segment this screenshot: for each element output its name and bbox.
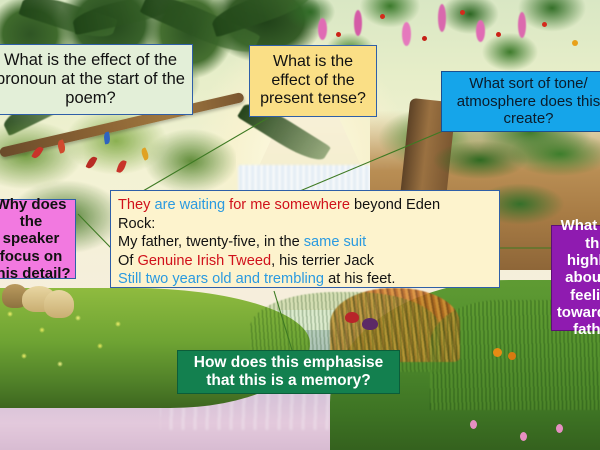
poem-run-black: , his terrier Jack	[271, 253, 374, 269]
red-mushroom	[345, 312, 359, 323]
poem-run-black: at his feet.	[324, 271, 395, 287]
poem-run-red: Genuine Irish Tweed	[137, 253, 271, 269]
pink-flower	[556, 424, 563, 433]
red-berry	[380, 14, 385, 19]
pink-blossom	[354, 10, 362, 36]
red-berry	[542, 22, 547, 27]
pink-blossom	[318, 18, 327, 40]
poem-line: They are waiting for me somewhere beyond…	[118, 196, 499, 215]
poem-run-red: They	[118, 197, 155, 213]
pink-blossom	[402, 22, 411, 46]
callout-highlight-feelings[interactable]: What does this highlight about his feeli…	[551, 225, 600, 331]
poem-line: Still two years old and trembling at his…	[118, 270, 499, 289]
pink-flower	[520, 432, 527, 441]
poem-line: Rock:	[118, 215, 499, 234]
callout-pronoun[interactable]: What is the effect of the pronoun at the…	[0, 44, 193, 115]
red-berry	[460, 10, 465, 15]
callout-highlight-feelings-text: What does this highlight about his feeli…	[552, 217, 600, 339]
red-berry	[496, 32, 501, 37]
poem-line: Of Genuine Irish Tweed, his terrier Jack	[118, 252, 499, 271]
orange-berry	[572, 40, 578, 46]
orange-flower	[508, 352, 516, 360]
callout-why-speaker-focus-text: Why does the speaker focus on this detai…	[0, 196, 75, 283]
poem-run-blue: are waiting	[155, 197, 230, 213]
callout-tone-atmosphere-text: What sort of tone/ atmosphere does this …	[442, 75, 600, 127]
callout-pronoun-text: What is the effect of the pronoun at the…	[0, 51, 192, 108]
callout-memory-emphasis[interactable]: How does this emphasise that this is a m…	[177, 350, 400, 394]
poem-run-blue: Still two years old and trembling	[118, 271, 324, 287]
poem-run-black: Of	[118, 253, 137, 269]
callout-why-speaker-focus[interactable]: Why does the speaker focus on this detai…	[0, 199, 76, 279]
poem-run-black: Rock:	[118, 216, 155, 232]
callout-tone-atmosphere[interactable]: What sort of tone/ atmosphere does this …	[441, 71, 600, 132]
poem-run-red: for me somewhere	[229, 197, 350, 213]
poem-run-black: My father, twenty-five, in the	[118, 234, 304, 250]
slide-canvas: What is the effect of the pronoun at the…	[0, 0, 600, 450]
pink-flower	[470, 420, 477, 429]
poem-run-blue: same suit	[304, 234, 366, 250]
red-berry	[422, 36, 427, 41]
animal-deer	[44, 290, 74, 318]
pink-blossom	[518, 12, 526, 38]
callout-present-tense-text: What is the effect of the present tense?	[250, 53, 376, 109]
pink-blossom	[476, 20, 485, 42]
poem-line: My father, twenty-five, in the same suit	[118, 233, 499, 252]
purple-rock	[362, 318, 378, 330]
callout-present-tense[interactable]: What is the effect of the present tense?	[249, 45, 377, 117]
eden-rock-extract[interactable]: They are waiting for me somewhere beyond…	[110, 190, 500, 288]
pink-blossom	[438, 4, 446, 32]
poem-run-black: beyond Eden	[350, 197, 440, 213]
orange-flower	[493, 348, 502, 357]
callout-memory-emphasis-text: How does this emphasise that this is a m…	[178, 354, 399, 390]
red-berry	[336, 32, 341, 37]
